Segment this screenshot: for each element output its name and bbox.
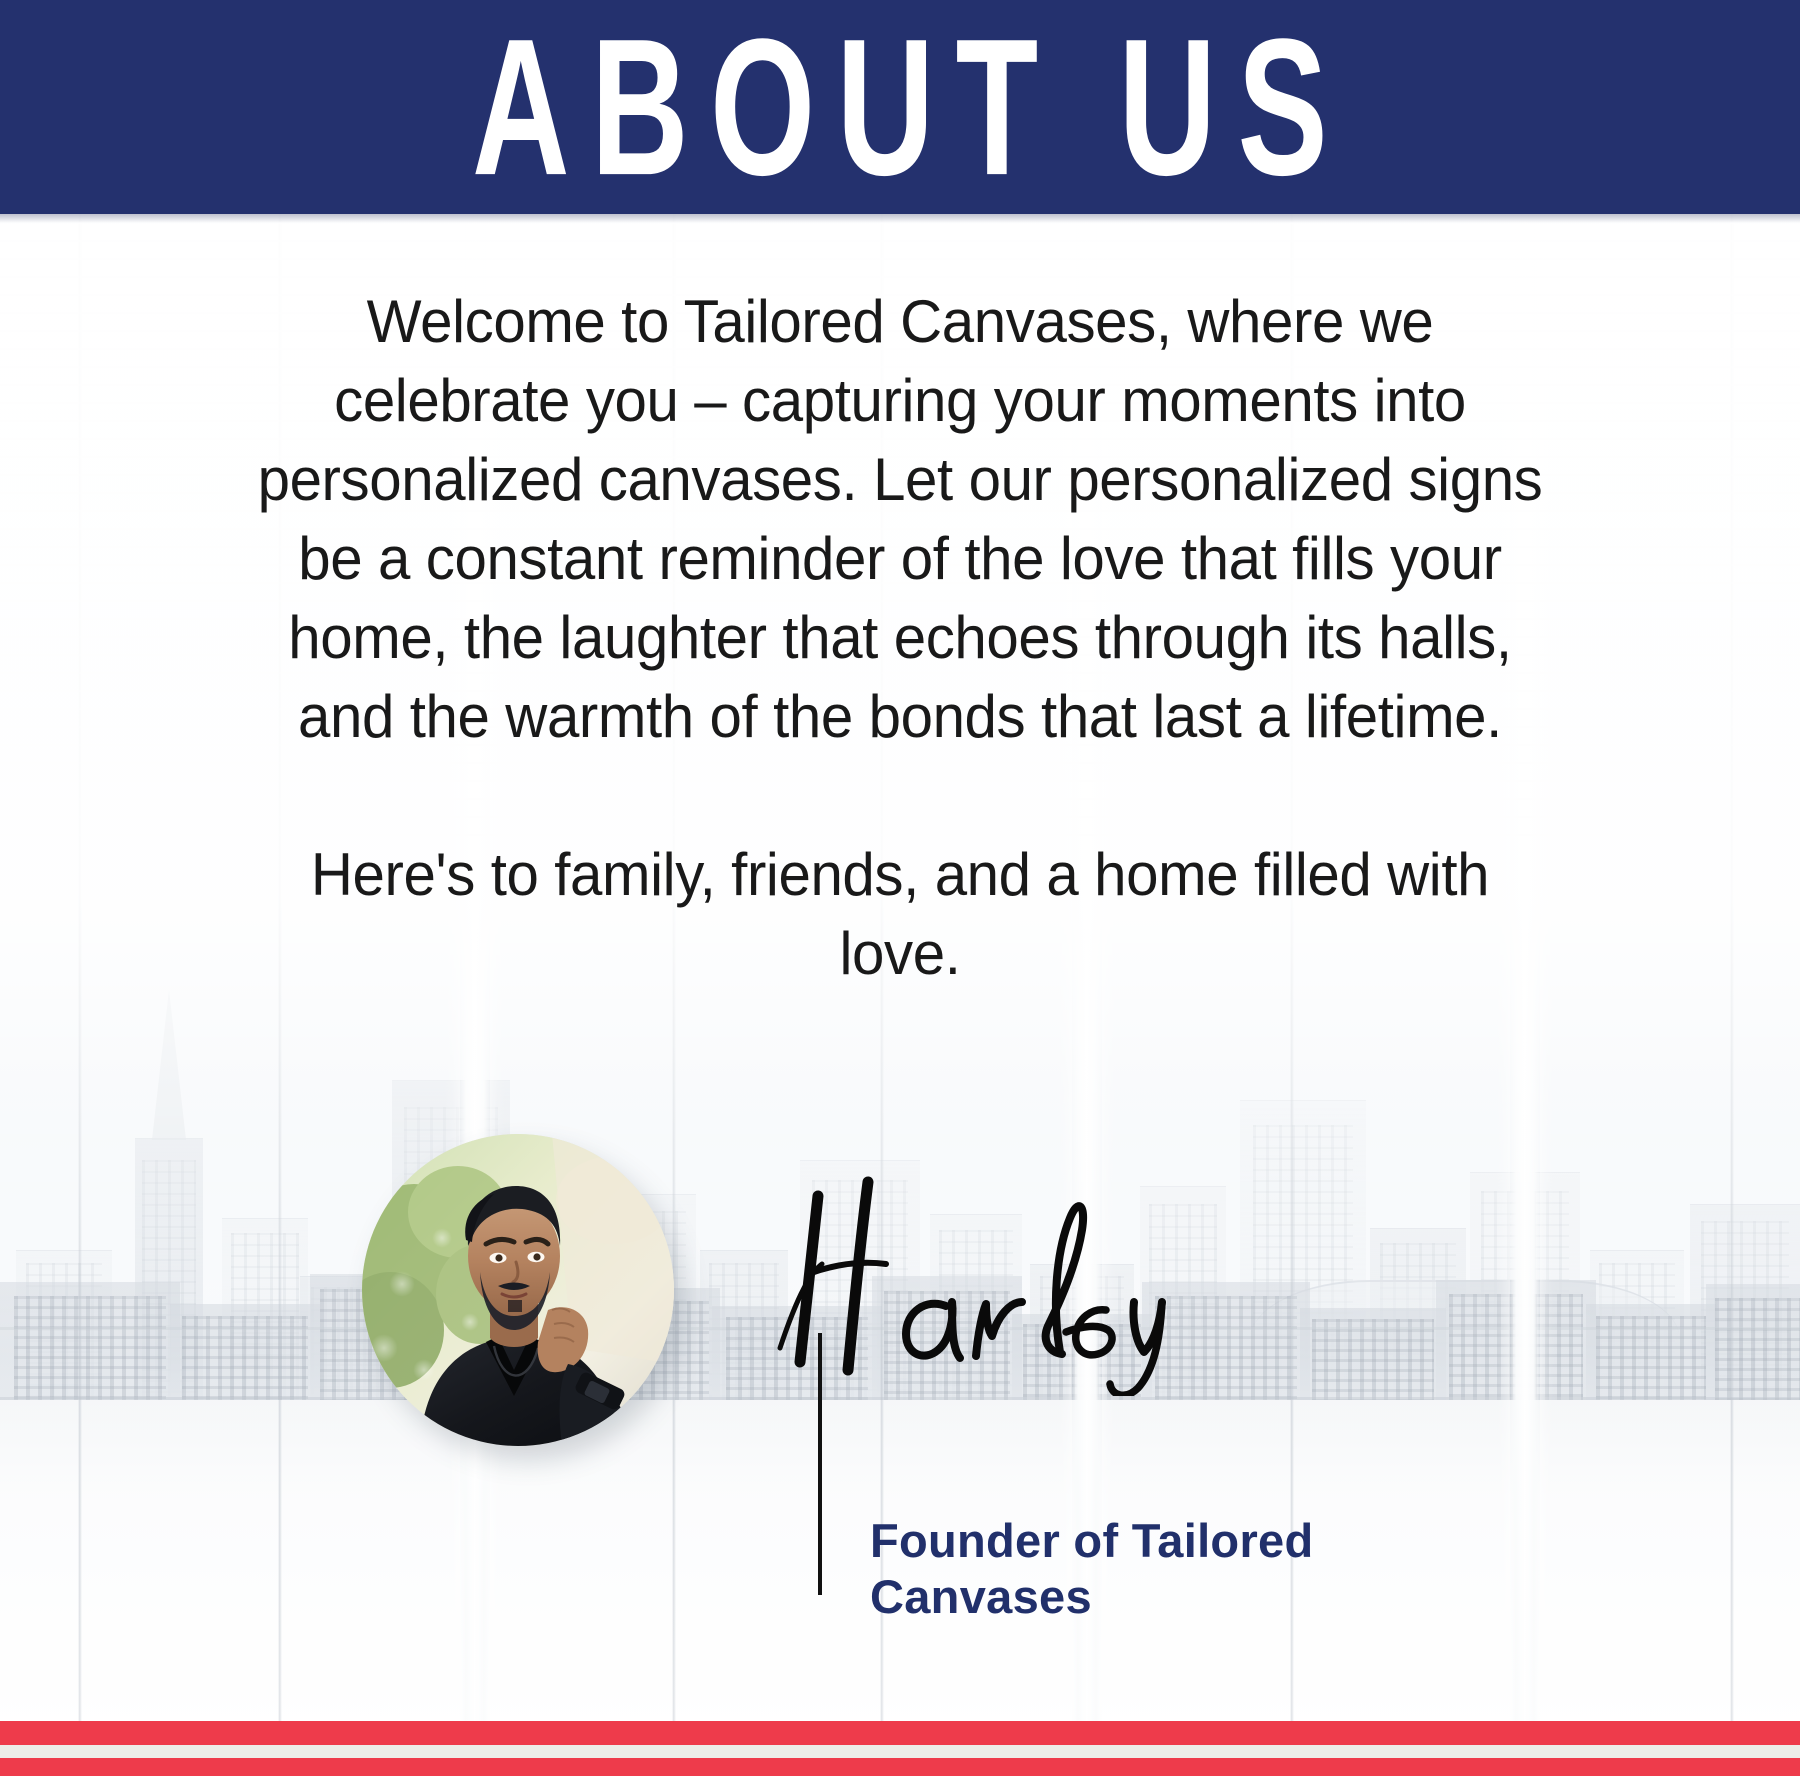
founder-role-text: Founder of Tailored Canvases	[870, 1513, 1490, 1625]
about-paragraph-2: Here's to family, friends, and a home fi…	[250, 835, 1550, 993]
about-us-poster: ABOUT US Welcome to Tailored Canvases, w…	[0, 0, 1800, 1776]
founder-role-line-2: Canvases	[870, 1569, 1490, 1625]
about-us-body-copy: Welcome to Tailored Canvases, where we c…	[27, 282, 1773, 993]
about-paragraph-1: Welcome to Tailored Canvases, where we c…	[250, 282, 1550, 756]
signature-script-harley	[760, 1156, 1460, 1396]
founder-portrait-avatar	[362, 1134, 674, 1446]
founder-signature	[760, 1156, 1460, 1396]
portrait-illustration	[362, 1134, 674, 1446]
footer-gap	[0, 1745, 1800, 1758]
footer-accent-bar-top	[0, 1721, 1800, 1745]
page-title: ABOUT US	[451, 10, 1349, 205]
header-bar: ABOUT US	[0, 0, 1800, 214]
founder-role-line-1: Founder of Tailored	[870, 1513, 1490, 1569]
header-shadow	[0, 214, 1800, 223]
footer-accent-bar-bottom	[0, 1758, 1800, 1776]
